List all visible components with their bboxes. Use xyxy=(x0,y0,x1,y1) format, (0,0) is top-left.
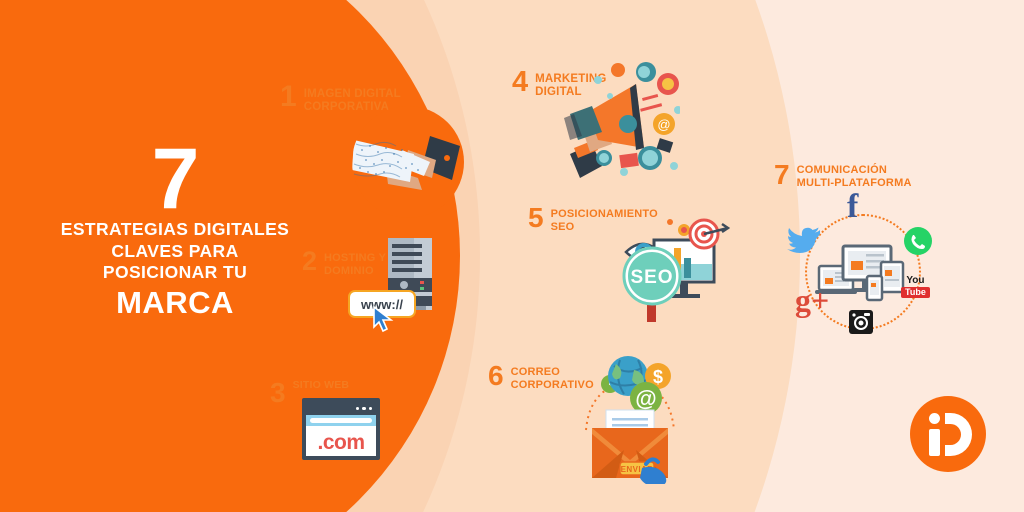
logo-i-stem xyxy=(929,429,940,456)
logo-d-shape xyxy=(945,413,972,456)
infographic-canvas: 7 ESTRATEGIAS DIGITALES CLAVES PARA POSI… xyxy=(0,0,1024,512)
cursor-icon xyxy=(372,305,396,338)
item-7[interactable]: 7 COMUNICACIÓN MULTI-PLATAFORMA xyxy=(774,164,912,190)
browser-domain-text: .com xyxy=(306,426,376,460)
svg-text:$: $ xyxy=(653,367,663,387)
hero-brand: MARCA xyxy=(40,285,310,321)
hero-number: 7 xyxy=(40,140,310,219)
whatsapp-icon[interactable] xyxy=(903,226,933,261)
item-3-label-line1: SITIO WEB xyxy=(293,379,350,391)
item-6-number: 6 xyxy=(488,364,504,388)
item-7-number: 7 xyxy=(774,163,790,187)
handshake-icon xyxy=(352,106,464,218)
browser-dot xyxy=(356,407,360,411)
browser-titlebar xyxy=(306,402,376,415)
hero-line-2: CLAVES PARA xyxy=(40,241,310,263)
browser-dot xyxy=(369,407,373,411)
item-2-number: 2 xyxy=(302,250,317,273)
envelope-icon: $ @ ENVIAR xyxy=(580,352,680,489)
item-3-number: 3 xyxy=(270,381,286,405)
hero-line-1: ESTRATEGIAS DIGITALES xyxy=(40,219,310,241)
twitter-icon[interactable] xyxy=(787,226,821,259)
hero-line-3: POSICIONAR TU xyxy=(40,262,310,284)
youtube-icon[interactable]: You Tube xyxy=(901,276,930,298)
logo-i-dot xyxy=(929,413,940,424)
item-2[interactable]: 2 HOSTING Y DOMINIO xyxy=(302,252,386,278)
instagram-icon[interactable] xyxy=(849,310,873,339)
browser-addressbar[interactable] xyxy=(306,415,376,426)
googleplus-icon[interactable]: g+ xyxy=(795,284,829,316)
browser-window-icon: .com xyxy=(302,398,380,460)
item-4-number: 4 xyxy=(512,70,528,95)
svg-text:@: @ xyxy=(635,386,656,411)
item-6[interactable]: 6 CORREO CORPORATIVO xyxy=(488,366,594,392)
item-7-label-line1: COMUNICACIÓN xyxy=(797,164,912,177)
magnifier-seo-icon: SEO xyxy=(622,216,730,331)
browser-dot xyxy=(362,407,366,411)
hero-block: 7 ESTRATEGIAS DIGITALES CLAVES PARA POSI… xyxy=(40,140,310,320)
id-logo[interactable] xyxy=(910,396,986,472)
svg-text:@: @ xyxy=(657,117,670,132)
item-2-label-line1: HOSTING Y xyxy=(324,252,386,265)
item-1-label-line1: IMAGEN DIGITAL xyxy=(304,88,401,101)
svg-text:SEO: SEO xyxy=(630,267,673,288)
megaphone-icon: @ xyxy=(558,62,680,185)
item-5-number: 5 xyxy=(528,206,544,230)
item-2-label-line2: DOMINIO xyxy=(324,265,386,278)
facebook-icon[interactable]: f xyxy=(847,190,858,224)
item-1-number: 1 xyxy=(280,84,297,110)
